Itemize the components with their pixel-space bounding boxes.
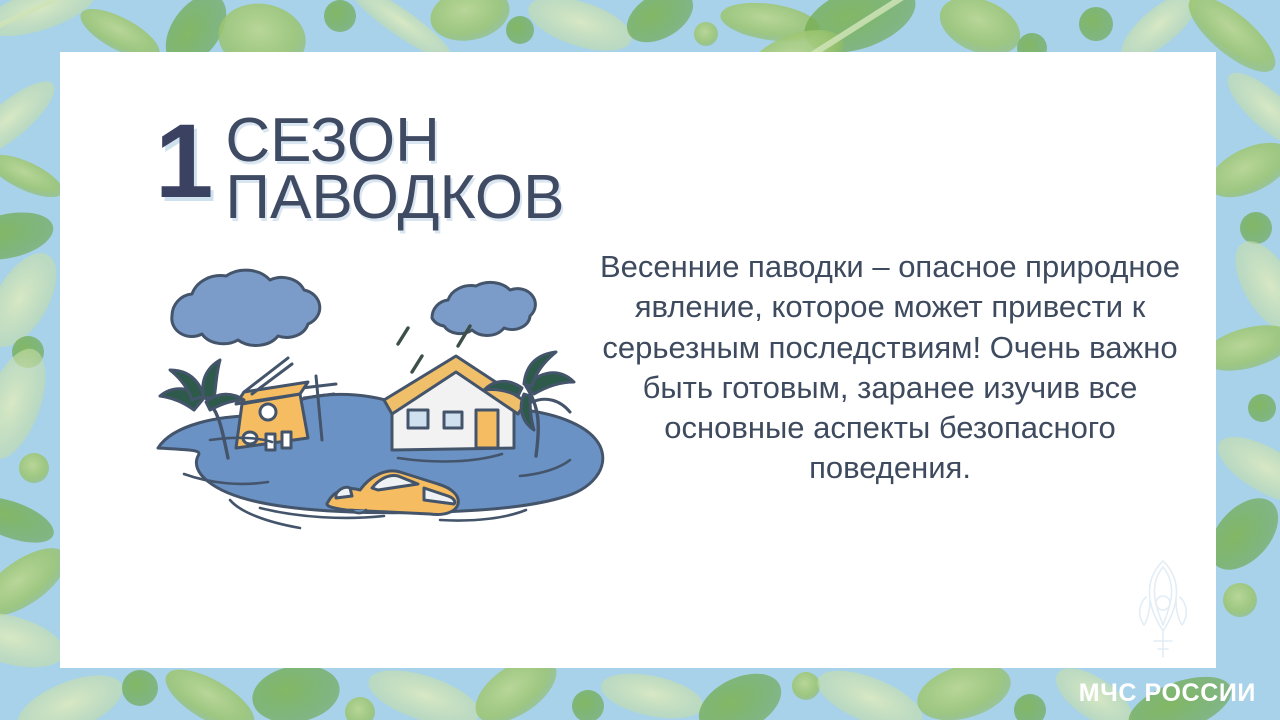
title-lines: СЕЗОН ПАВОДКОВ <box>225 112 564 226</box>
title-line-1: СЕЗОН <box>225 112 564 169</box>
tilted-orange-house <box>236 358 308 450</box>
title-line-2: ПАВОДКОВ <box>225 169 564 226</box>
section-number: 1 <box>155 117 225 207</box>
emercom-russia-emblem <box>1134 557 1192 662</box>
body-paragraph: Весенние паводки – опасное природное явл… <box>580 247 1200 489</box>
page-title: 1 СЕЗОН ПАВОДКОВ <box>155 112 564 226</box>
rain-cloud-large <box>172 270 320 345</box>
slide-root: 1 СЕЗОН ПАВОДКОВ <box>0 0 1280 720</box>
content-card: 1 СЕЗОН ПАВОДКОВ <box>60 52 1216 668</box>
rain-cloud-small <box>432 282 535 335</box>
flood-scene-illustration <box>140 252 620 552</box>
white-house-with-yellow-roof <box>384 356 526 450</box>
footer-brand-wordmark: МЧС РОССИИ <box>1079 679 1256 708</box>
